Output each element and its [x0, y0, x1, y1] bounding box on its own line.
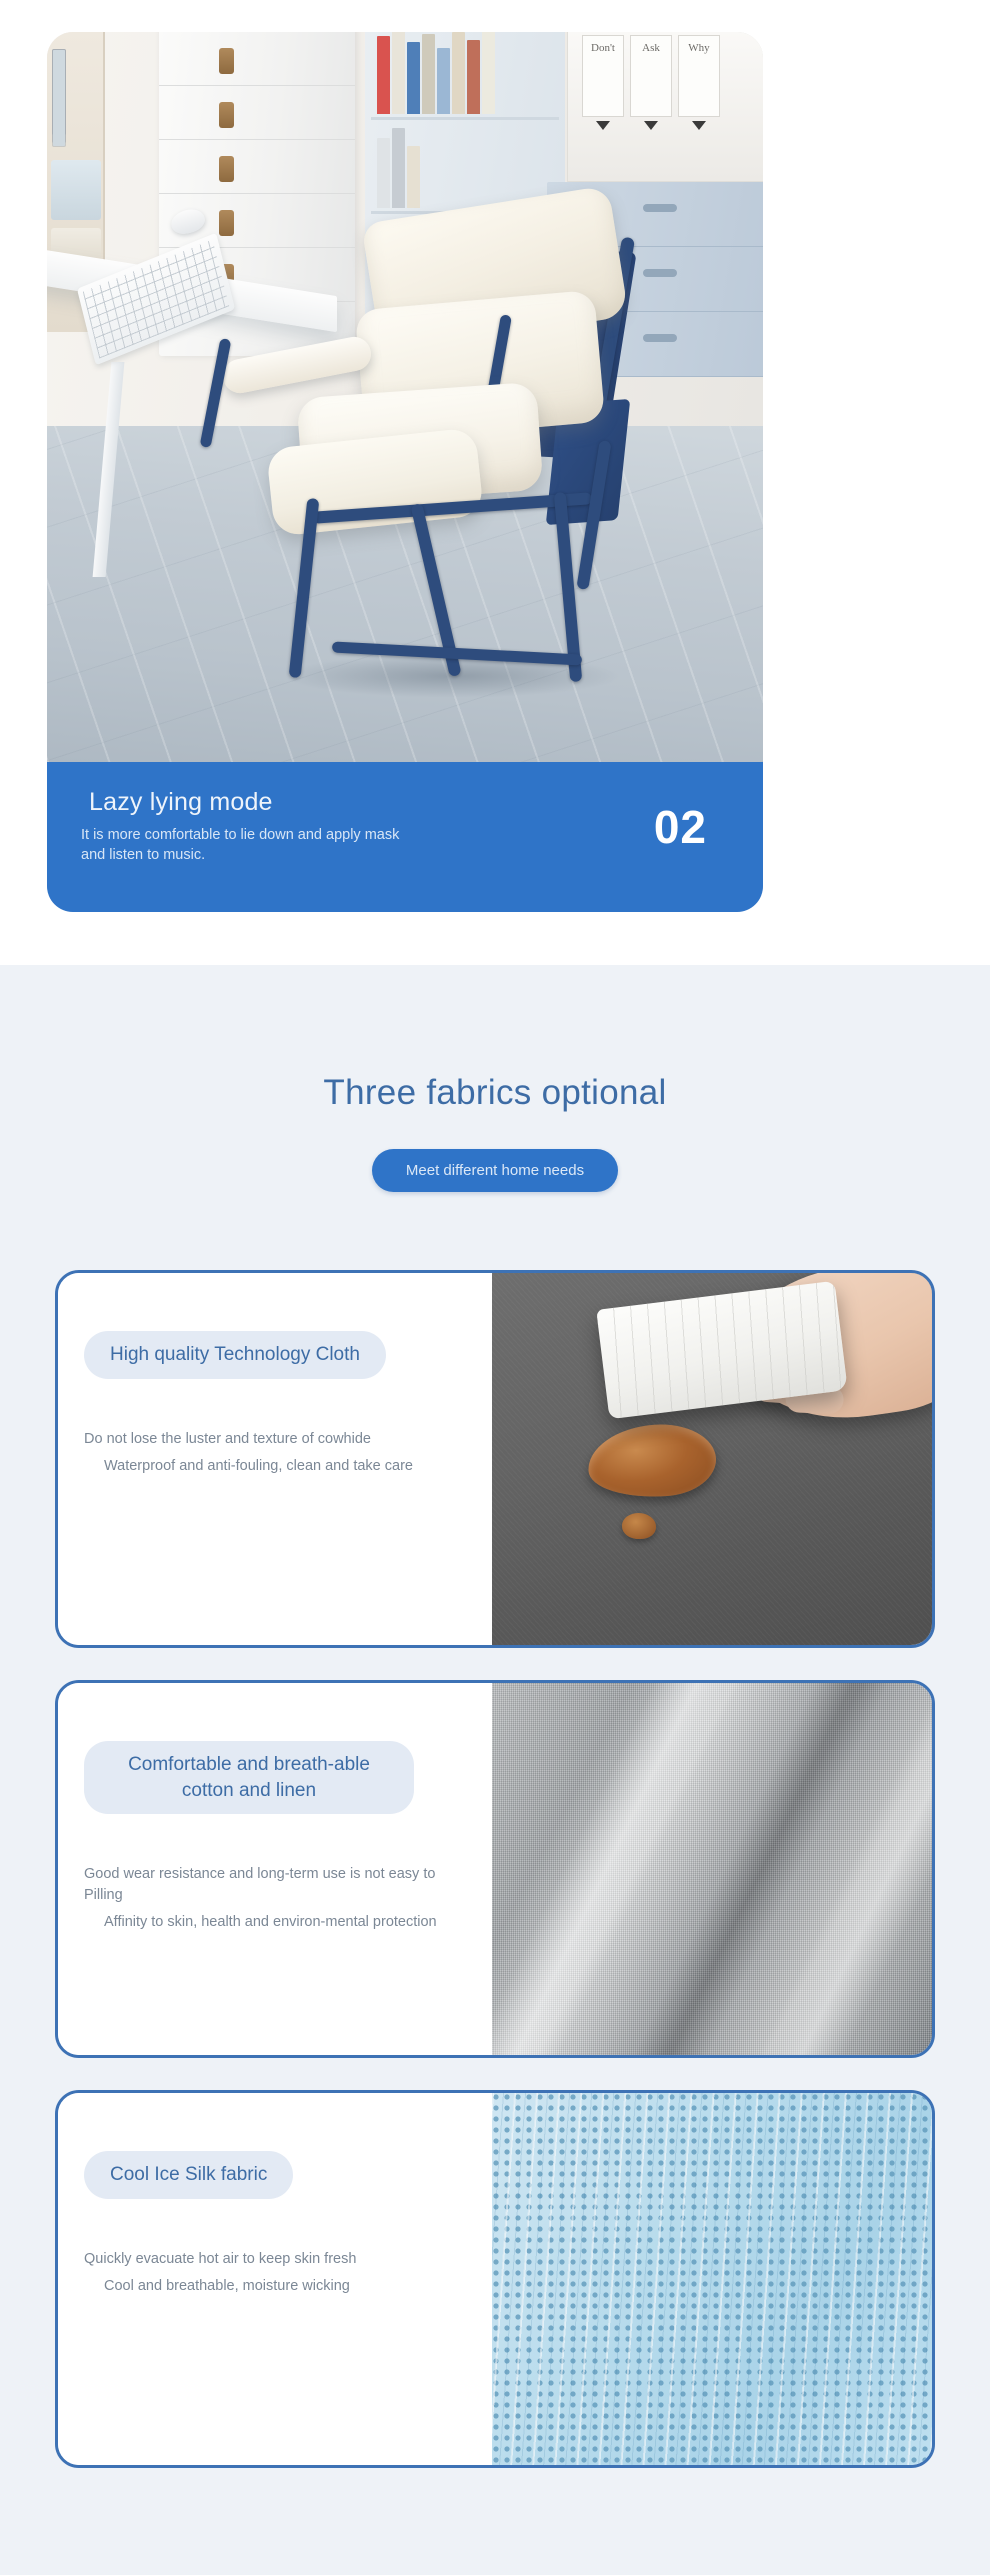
book-label: Ask	[630, 35, 672, 117]
photo-background	[492, 1273, 932, 1645]
book-icon	[392, 32, 405, 114]
meet-home-needs-button[interactable]: Meet different home needs	[372, 1149, 618, 1192]
fabric-label-badge: High quality Technology Cloth	[84, 1331, 386, 1379]
fabrics-heading: Three fabrics optional	[0, 965, 990, 1113]
fabric-description-secondary: Cool and breathable, moisture wicking	[104, 2276, 466, 2297]
hero-photo-lazy-lying-mode: Don't Ask Why	[47, 32, 763, 762]
book-icon	[437, 48, 450, 114]
fabrics-section: Three fabrics optional Meet different ho…	[0, 965, 990, 2575]
book-icon	[377, 138, 390, 208]
book-label: Why	[678, 35, 720, 117]
triangle-icon	[644, 121, 658, 130]
book-icon	[377, 36, 390, 114]
book-icon	[467, 40, 480, 114]
fabric-description-primary: Good wear resistance and long-term use i…	[84, 1864, 466, 1906]
drawer	[159, 86, 355, 140]
fabric-label-badge: Cool Ice Silk fabric	[84, 2151, 293, 2199]
book-icon	[452, 32, 465, 114]
fabric-card-list: High quality Technology Cloth Do not los…	[0, 1270, 990, 2468]
fabric-photo-cotton-linen	[492, 1683, 932, 2055]
shelf-box	[51, 160, 101, 220]
liquid-droplet	[622, 1513, 656, 1539]
book-icon	[422, 34, 435, 114]
fabric-card-technology-cloth[interactable]: High quality Technology Cloth Do not los…	[55, 1270, 935, 1648]
book-icon	[392, 128, 405, 208]
photo-background	[492, 2093, 932, 2465]
triangle-icon	[596, 121, 610, 130]
hero-caption-bar: Lazy lying mode It is more comfortable t…	[47, 762, 763, 912]
drawer	[159, 140, 355, 194]
photo-background	[492, 1683, 932, 2055]
fabric-description-primary: Quickly evacuate hot air to keep skin fr…	[84, 2249, 466, 2270]
hero-step-number: 02	[654, 800, 707, 854]
chair-front-cushion	[266, 427, 484, 536]
hero-caption-title: Lazy lying mode	[89, 788, 729, 817]
book-icon	[407, 42, 420, 114]
book-icon	[53, 50, 65, 146]
fabric-card-cotton-linen[interactable]: Comfortable and breath-able cotton and l…	[55, 1680, 935, 2058]
hero-product-card: Don't Ask Why	[47, 32, 763, 912]
fabric-card-text: Comfortable and breath-able cotton and l…	[58, 1683, 492, 2055]
book-label: Don't	[582, 35, 624, 117]
fabric-description-secondary: Waterproof and anti-fouling, clean and t…	[104, 1456, 466, 1477]
fabric-photo-ice-silk	[492, 2093, 932, 2465]
fabric-photo-technology-cloth	[492, 1273, 932, 1645]
fabrics-pill-wrapper: Meet different home needs	[0, 1149, 990, 1192]
book-icon	[482, 32, 495, 114]
fabric-card-text: Cool Ice Silk fabric Quickly evacuate ho…	[58, 2093, 492, 2465]
fabric-description-primary: Do not lose the luster and texture of co…	[84, 1429, 466, 1450]
right-white-cabinet: Don't Ask Why	[567, 32, 763, 182]
hero-section: Don't Ask Why	[0, 0, 990, 965]
folding-lounge-chair	[252, 202, 722, 742]
fabric-description-secondary: Affinity to skin, health and environ-men…	[104, 1912, 466, 1933]
fabric-label-badge: Comfortable and breath-able cotton and l…	[84, 1741, 414, 1814]
fabric-card-text: High quality Technology Cloth Do not los…	[58, 1273, 492, 1645]
liquid-spill	[586, 1421, 719, 1502]
book-icon	[407, 146, 420, 208]
bookcase-shelf	[371, 32, 559, 120]
hero-caption-subtitle: It is more comfortable to lie down and a…	[81, 826, 411, 865]
drawer	[159, 32, 355, 86]
triangle-icon	[692, 121, 706, 130]
fabric-card-ice-silk[interactable]: Cool Ice Silk fabric Quickly evacuate ho…	[55, 2090, 935, 2468]
